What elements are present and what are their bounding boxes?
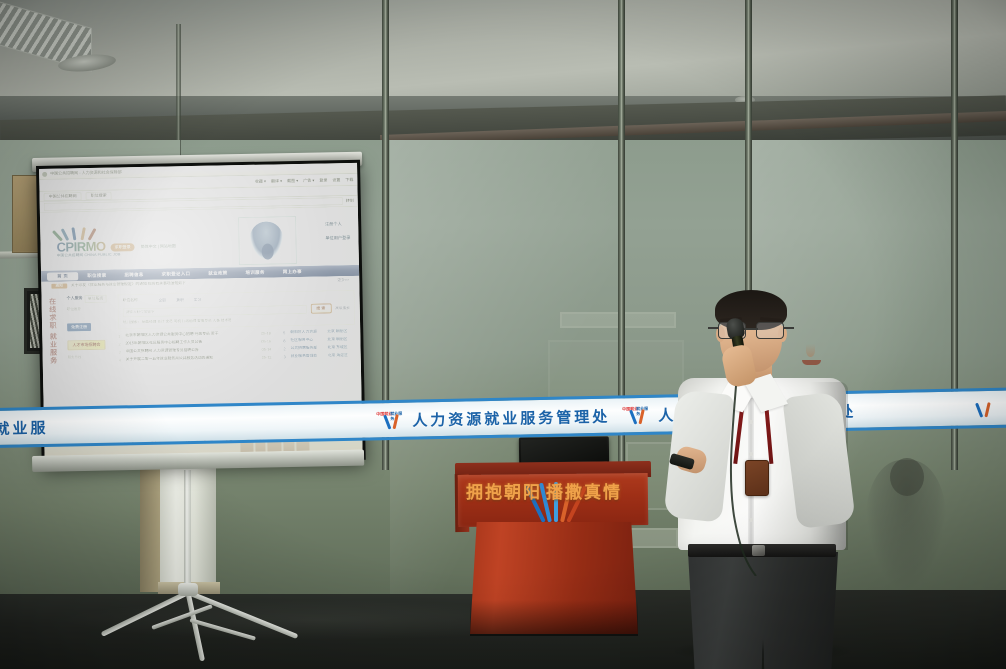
job-title[interactable]: 中国公共招聘网 人力资源管理专员招聘公告 (126, 347, 259, 355)
toolbar-item[interactable]: 广告 ▾ (303, 177, 314, 183)
banner-text-main: 人力资源就业服务管理处 (412, 405, 610, 430)
job-list: 1 北京市朝阳区人力资源公共服务中心招聘 行政专员 若干 05-18 5 朝阳区… (118, 329, 356, 363)
banner-logo-icon (966, 397, 996, 420)
header-link-register[interactable]: 注册个人 (325, 221, 350, 227)
nav-item-training[interactable]: 培训服务 (236, 269, 273, 276)
speaker-trousers (688, 552, 838, 669)
podium-slogan-left: 拥抱朝阳 (466, 478, 542, 503)
nav-item-registration[interactable]: 求职登记入口 (153, 270, 200, 277)
eyeglass-bridge (744, 328, 758, 330)
toolbar-item[interactable]: 登录 (319, 177, 327, 183)
browser-window-title: 中国公共招聘网 - 人力资源和社会保障部 (50, 169, 122, 176)
toolbar-item[interactable]: 收藏 ▾ (255, 178, 266, 184)
toolbar-item[interactable]: 截图 ▾ (287, 177, 298, 183)
job-headcount: 3 (282, 355, 288, 359)
row-index: 3 (119, 350, 123, 354)
browser-tab[interactable]: 职位搜索 (85, 191, 111, 199)
tripod-hub (178, 583, 198, 596)
ghost-silhouette-head (890, 458, 924, 496)
banner-logo-icon: 中国就业 就业服务 (374, 409, 404, 432)
banner-text-partial-left: 就业服 (0, 416, 49, 438)
job-location[interactable]: 北京 朝阳区 (327, 337, 355, 343)
advanced-search-link[interactable]: 高级搜索 (335, 306, 349, 311)
job-employer[interactable]: 朝阳区人力资源 (290, 329, 324, 335)
mascot-icon (249, 221, 284, 260)
header-link-employer[interactable]: 单位用户登录 (325, 235, 350, 241)
hotline-note: 服务热线 (68, 354, 114, 360)
speaker-person (660, 290, 860, 669)
row-index: 2 (118, 342, 122, 346)
photo-scene: 中国公共招聘网 - 人力资源和社会保障部 收藏 ▾ 翻译 ▾ 截图 ▾ 广告 ▾… (0, 0, 1006, 669)
job-title[interactable]: 关于开展二零一五年就业服务月公共服务活动的通知 (126, 355, 259, 363)
toolbar-item[interactable]: 翻译 ▾ (271, 178, 282, 184)
logo-subtitle: 中国公共招聘网 CHINA PUBLIC JOB (57, 252, 121, 258)
toolbar-item[interactable]: 下载 (345, 176, 353, 182)
banner-logo-icon: 中国就业 就业服务 (620, 404, 650, 427)
header-links: 注册个人 单位用户登录 (325, 221, 351, 241)
login-pill-button[interactable]: 求职登录 (111, 243, 135, 251)
header-utility-links[interactable]: 简体中文 | 网站地图 (141, 243, 176, 250)
row-index: 1 (118, 334, 122, 338)
podium-slogan-right: 播撒真情 (546, 478, 622, 503)
job-employer[interactable]: 公共招聘服务部 (291, 345, 325, 351)
filter-internship[interactable]: 实习 (194, 297, 202, 302)
tab-personal-service[interactable]: 个人服务 (66, 295, 82, 303)
job-headcount: 8 (281, 339, 287, 343)
nav-item-job-search[interactable]: 职位搜索 (78, 272, 115, 279)
browser-tab[interactable]: 中国公共招聘网 (44, 192, 82, 201)
search-input-row: 请输入职位关键字 搜 索 高级搜索 (123, 303, 350, 317)
vertical-banner-text: 在线求职 就业服务 (47, 298, 58, 365)
job-employer[interactable]: 社区服务中心 (290, 337, 324, 343)
nav-item-policy[interactable]: 就业政策 (199, 270, 236, 277)
service-tabs: 个人服务 单位服务 (66, 295, 112, 304)
job-location[interactable]: 北京 东城区 (327, 345, 355, 351)
job-location[interactable]: 北京 海淀区 (328, 353, 356, 359)
job-title[interactable]: 北京市朝阳区人力资源公共服务中心招聘 行政专员 若干 (125, 331, 258, 339)
job-title[interactable]: 2015年朝阳区社区服务中心招聘工作人员公告 (125, 339, 258, 347)
main-column: 职位名称 全职 兼职 实习 请输入职位关键字 搜 索 高级搜索 (115, 286, 361, 419)
narrow-column: 个人服务 单位服务 职位推荐 免费注册 人才市场招聘会 服务热线 (63, 290, 117, 419)
job-headcount: 2 (282, 347, 288, 351)
logo-fan-icon (56, 224, 96, 241)
nav-item-home[interactable]: 首 页 (47, 272, 78, 281)
job-date: 05-18 (261, 331, 278, 335)
search-field-label: 职位名称 (123, 298, 149, 304)
free-register-button[interactable]: 免费注册 (67, 323, 91, 331)
job-location[interactable]: 北京 朝阳区 (327, 329, 355, 335)
job-date: 05-16 (261, 339, 278, 343)
notice-text[interactable]: 关于印发《就业服务与就业管理规定》的通知 现将有关事项通知如下 (71, 281, 186, 288)
laptop-screen (521, 438, 607, 462)
nav-item-online-service[interactable]: 网上办事 (274, 268, 311, 275)
toolbar-item[interactable]: 设置 (332, 177, 340, 183)
speaker-belt-buckle (752, 545, 765, 556)
job-date: 05-14 (262, 347, 279, 351)
eyeglass-lens (756, 322, 784, 339)
speaker-nose (806, 344, 815, 357)
notice-more-link[interactable]: 更多>> (337, 278, 349, 283)
row-index: 4 (119, 358, 123, 362)
podium-shadow (470, 600, 638, 636)
site-logo[interactable]: CPIRMO 中国公共招聘网 CHINA PUBLIC JOB (56, 223, 121, 258)
eyeglass-temple (784, 327, 794, 329)
left-vertical-banner: 在线求职 就业服务 (41, 291, 65, 419)
filter-fulltime[interactable]: 全职 (159, 298, 167, 303)
job-search-panel: 职位名称 全职 兼职 实习 请输入职位关键字 搜 索 高级搜索 (117, 290, 355, 330)
speaker-id-badge (745, 460, 769, 496)
job-date: 05-12 (262, 355, 279, 359)
site-main: 在线求职 就业服务 个人服务 单位服务 职位推荐 免费注册 人才市场招聘会 服务… (41, 286, 361, 420)
job-employer[interactable]: 就业服务管理处 (291, 353, 325, 359)
eyeglass-temple (708, 327, 718, 329)
job-headcount: 5 (281, 331, 287, 335)
job-fair-button[interactable]: 人才市场招聘会 (67, 340, 105, 351)
nav-item-recruitment[interactable]: 招聘信息 (115, 271, 152, 278)
search-button[interactable]: 搜 索 (310, 303, 331, 313)
table-row[interactable]: 4 关于开展二零一五年就业服务月公共服务活动的通知 05-12 3 就业服务管理… (119, 353, 356, 363)
hot-keywords[interactable]: 热门搜索： 销售经理 会计 文员 司机 行政助理 客服专员 人事 技术员 (123, 316, 350, 325)
tab-employer-service[interactable]: 单位服务 (84, 295, 106, 303)
speaker-mouth (802, 360, 821, 365)
browser-icon (42, 171, 47, 176)
go-button[interactable]: 转到 (346, 198, 354, 204)
tripod-post (184, 470, 191, 592)
notice-tag: 通知 (51, 283, 67, 288)
recommend-label: 职位推荐 (67, 307, 113, 313)
filter-parttime[interactable]: 兼职 (176, 298, 184, 303)
site-header: CPIRMO 中国公共招聘网 CHINA PUBLIC JOB 求职登录 简体中… (40, 207, 359, 271)
mascot-box (238, 216, 297, 265)
search-input[interactable]: 请输入职位关键字 (123, 304, 307, 317)
